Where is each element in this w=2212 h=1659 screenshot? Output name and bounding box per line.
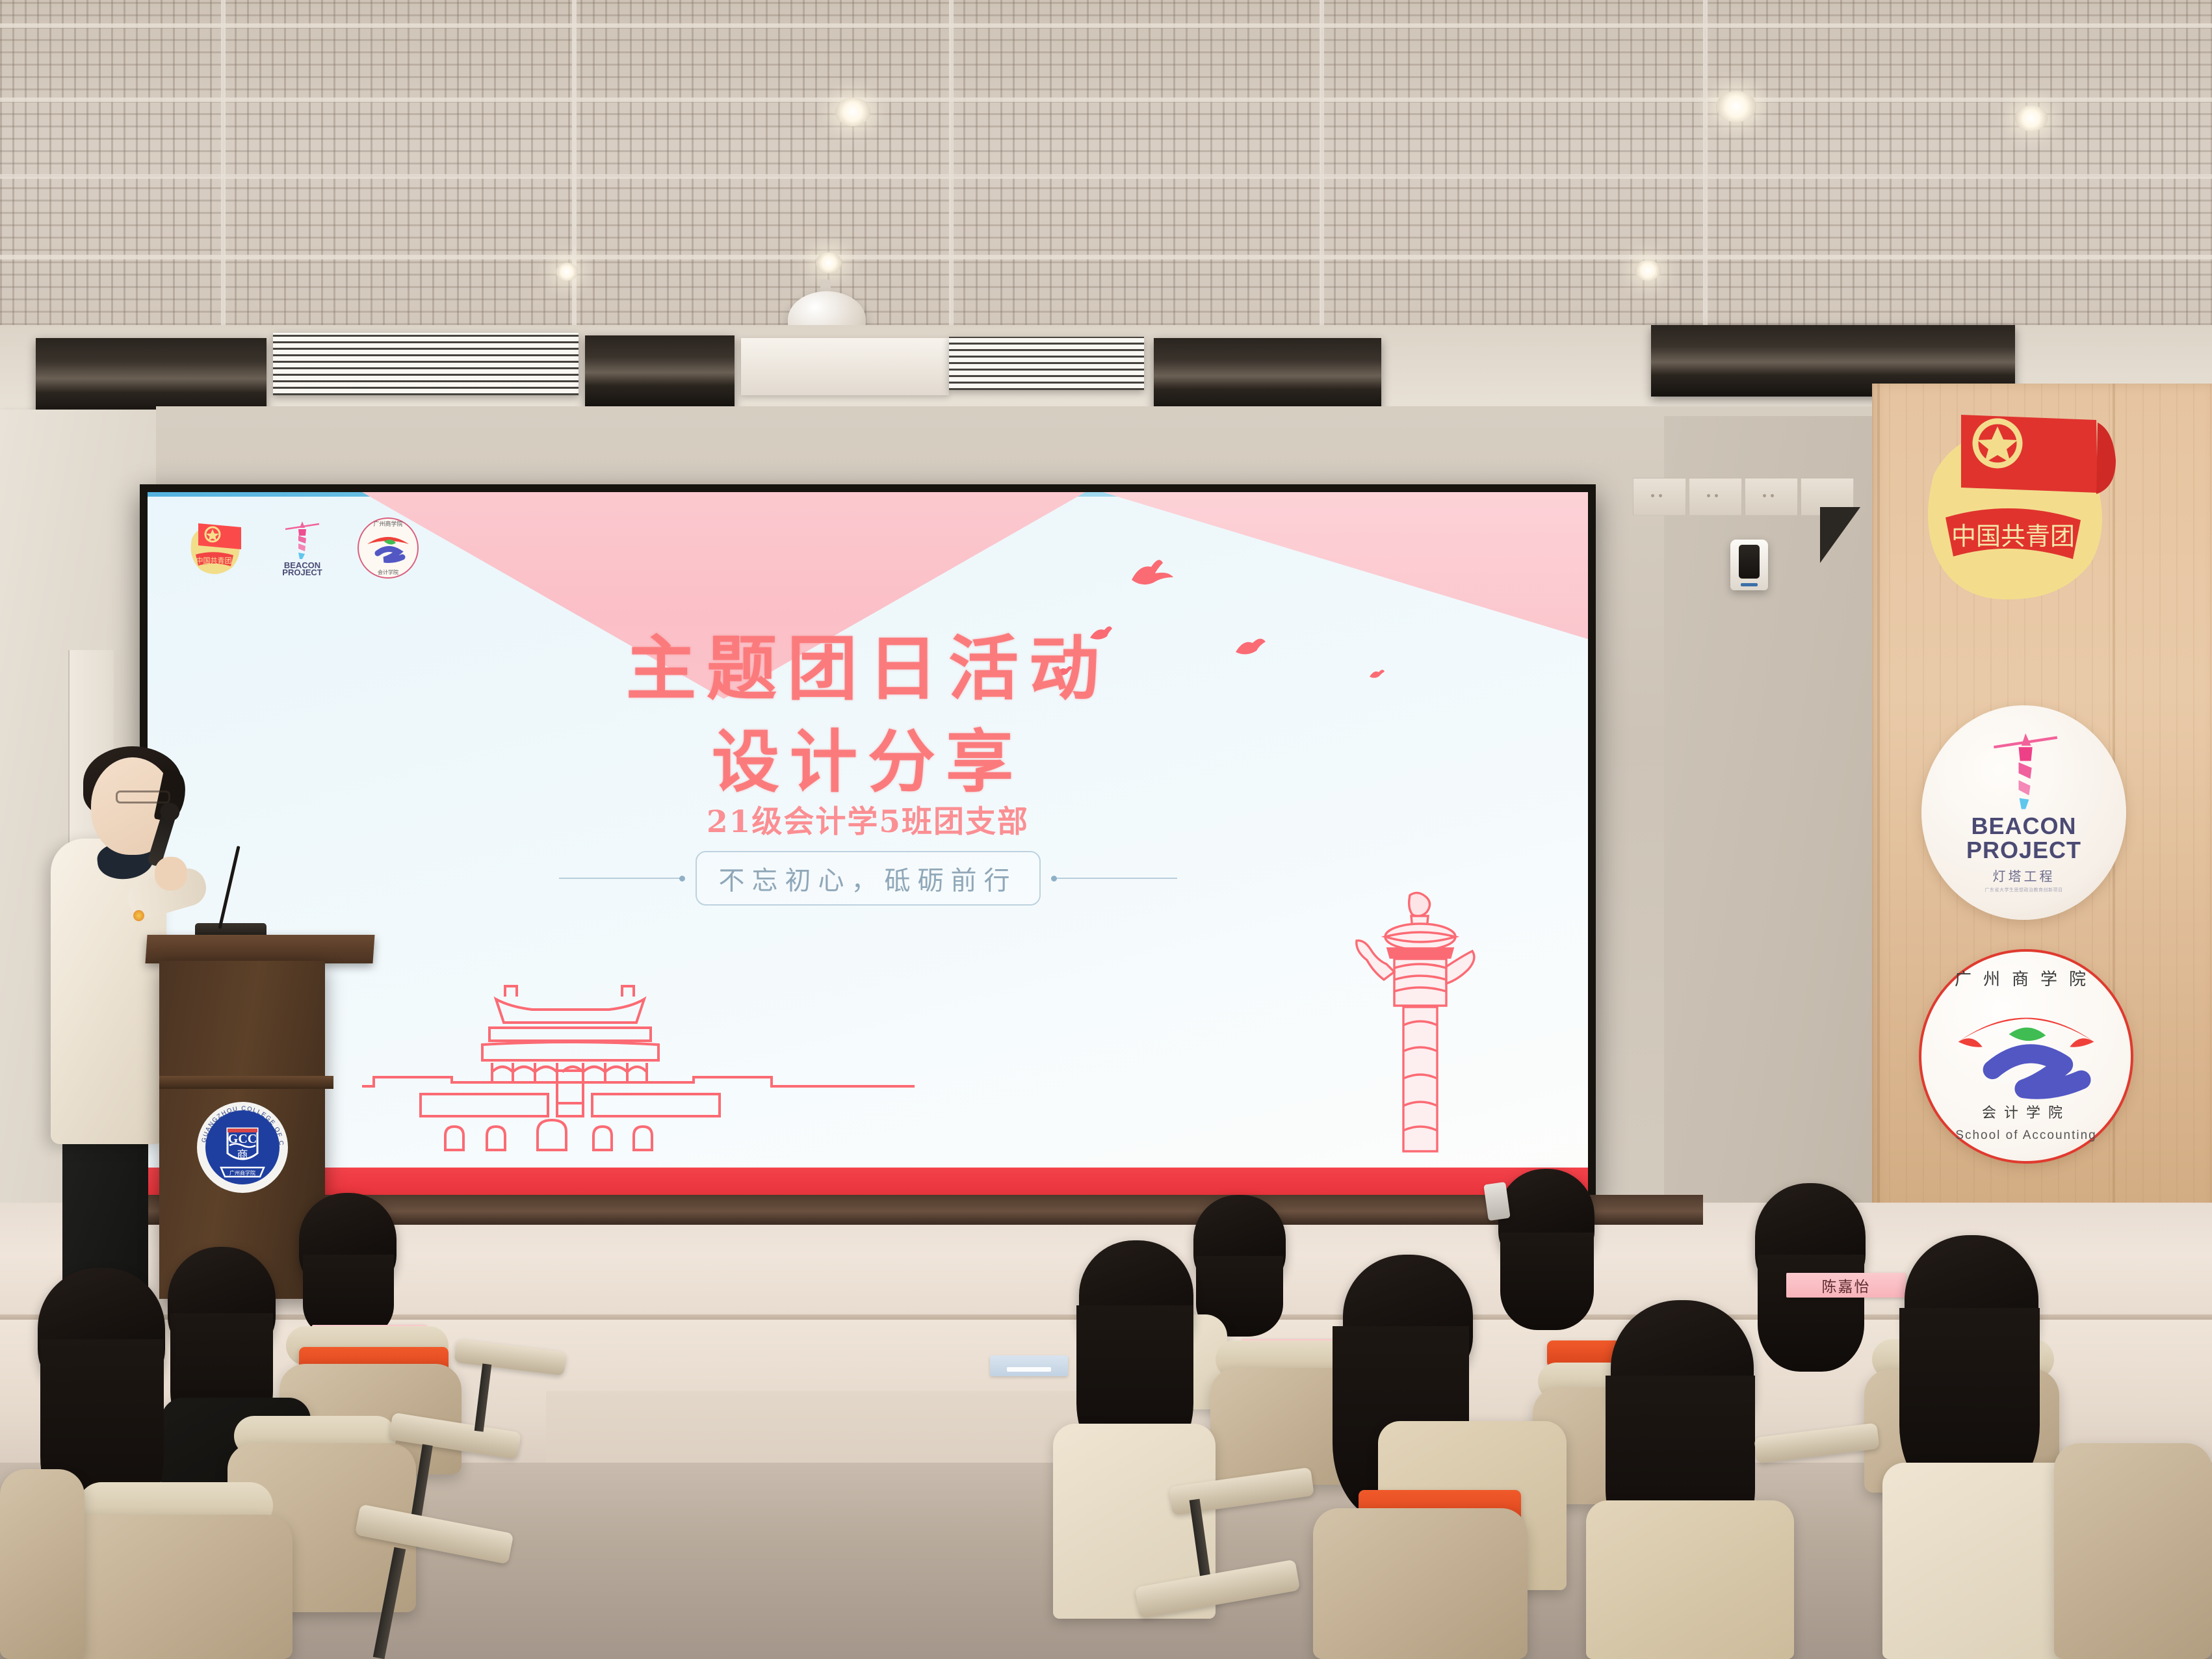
camera-lens [1739, 545, 1760, 579]
school-of-accounting-seal: 广州商学院 会计学院 [356, 516, 421, 581]
beacon-label-cn: 灯塔工程 [1993, 866, 2055, 885]
auditorium-photo: 中国共青团 BEACON PROJECT [0, 0, 2212, 1659]
slide-slogan: 不忘初心，砥砺前行 [696, 851, 1041, 906]
ceiling-downlight [816, 252, 842, 273]
slide-logo-group: 中国共青团 BEACON PROJECT [179, 516, 421, 581]
ceiling-grid-line [0, 174, 2212, 179]
ceiling-grid-line [0, 98, 2212, 102]
wall-beacon-project-logo: BEACON PROJECT 灯塔工程 广东省大学生思想政治教育创新项目 [1921, 705, 2126, 920]
ptz-camera [1730, 540, 1768, 590]
svg-text:会计学院: 会计学院 [378, 569, 398, 575]
svg-text:商: 商 [237, 1149, 248, 1162]
panel-screw [1651, 494, 1654, 497]
panel-screw [1763, 494, 1766, 497]
cyl-emblem-label: 中国共青团 [1951, 522, 2075, 551]
ceiling-grid-line [0, 255, 2212, 259]
air-conditioner-unit [36, 338, 267, 416]
ceiling-downlight [1635, 260, 1661, 281]
auditorium-seat [2054, 1443, 2212, 1659]
ceiling-grid-line [1320, 0, 1324, 325]
slide-title-line2: 设计分享 [148, 707, 1588, 805]
ceiling-acoustic-panels [0, 0, 2212, 325]
slide-organization: 21级会计学5班团支部 [148, 796, 1588, 841]
podium-top-surface [145, 935, 374, 963]
svg-text:中国共青团: 中国共青团 [196, 556, 232, 565]
beacon-label-en-1: BEACON [1971, 815, 2076, 839]
tiananmen-gate-outline [343, 973, 928, 1165]
air-conditioner-unit [585, 335, 735, 407]
ceiling-grid-line [221, 0, 226, 325]
huabiao-column-outline [1347, 889, 1484, 1165]
svg-text:广州商学院: 广州商学院 [229, 1169, 255, 1176]
panel-screw [1659, 494, 1662, 497]
auditorium-seat [1313, 1508, 1528, 1659]
svg-text:PROJECT: PROJECT [282, 568, 322, 577]
stage-edge-sign [990, 1355, 1068, 1376]
beacon-project-logo: BEACON PROJECT [271, 517, 333, 579]
podium-ledge [159, 1076, 333, 1089]
school-seal-label-cn-top: 广州商学院 [1921, 966, 2131, 990]
school-seal-label-cn-bottom: 会计学院 [1921, 1101, 2131, 1122]
ceiling-grid-line [1703, 0, 1708, 325]
ceiling-downlight [1716, 91, 1756, 122]
air-conditioner-grille [273, 333, 579, 395]
audience-hair [1500, 1233, 1594, 1330]
panel-screw [1707, 494, 1710, 497]
ceiling-grid-line [0, 23, 2212, 28]
svg-text:广州商学院: 广州商学院 [373, 520, 402, 528]
ceiling-grid-line [949, 0, 954, 325]
beacon-label-en-2: PROJECT [1966, 839, 2081, 863]
audience-hair [1758, 1255, 1864, 1372]
wood-seam [1877, 384, 1880, 1268]
air-vent [741, 338, 949, 395]
slide-red-footer [148, 1168, 1588, 1195]
gcc-college-seal: GCC 商 广州商学院 GUANGZHOU COLLEGE OF COMMERC… [195, 1100, 290, 1195]
seat-name-card-3: 陈嘉怡 [1786, 1273, 1906, 1298]
air-conditioner-grille [949, 337, 1144, 390]
beacon-label-tiny: 广东省大学生思想政治教育创新项目 [1985, 887, 2063, 893]
air-conditioner-unit [1154, 338, 1381, 411]
projection-screen-frame: 中国共青团 BEACON PROJECT [140, 484, 1596, 1203]
ceiling-downlight [835, 98, 870, 126]
auditorium-seat [0, 1469, 85, 1659]
speaker-glasses [116, 790, 170, 803]
school-seal-label-en: School of Accounting [1921, 1129, 2131, 1143]
camera-led [1741, 583, 1758, 586]
slogan-rule-left [559, 878, 683, 879]
wall-communist-youth-league-emblem: 中国共青团 [1901, 397, 2122, 611]
ceiling-downlight [2015, 105, 2048, 131]
audience-coat [1586, 1500, 1794, 1659]
presentation-slide: 中国共青团 BEACON PROJECT [148, 492, 1588, 1195]
panel-screw [1771, 494, 1774, 497]
slide-title-line1: 主题团日活动 [148, 612, 1588, 714]
wall-school-of-accounting-seal: 广州商学院 会计学院 School of Accounting [1919, 949, 2133, 1164]
speaker-hand [155, 857, 187, 891]
panel-screw [1715, 494, 1718, 497]
auditorium-seat [65, 1515, 293, 1659]
communist-youth-league-emblem: 中国共青团 [179, 518, 249, 578]
slogan-rule-right [1054, 878, 1177, 879]
speaker-lapel-badge [133, 910, 144, 921]
ceiling-downlight [556, 263, 578, 281]
bird-icon [1129, 554, 1176, 592]
